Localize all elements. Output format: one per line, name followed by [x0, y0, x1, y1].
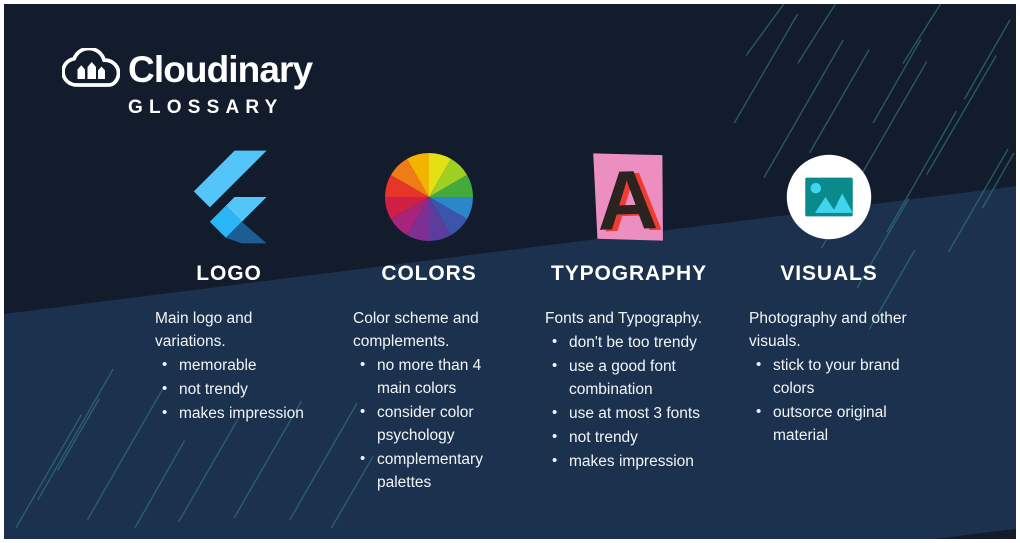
- list-item: no more than 4 main colors: [375, 355, 517, 401]
- pillar-visuals-body: Photography and other visuals. stick to …: [729, 308, 929, 449]
- pillar-typography-description: Fonts and Typography.: [545, 308, 727, 331]
- pillar-colors-body: Color scheme and complements. no more th…: [329, 308, 529, 496]
- pillar-logo-body: Main logo and variations. memorable not …: [129, 308, 329, 427]
- list-item: not trendy: [177, 379, 317, 402]
- brand-row: Cloudinary: [62, 48, 312, 90]
- brand-lockup: Cloudinary GLOSSARY: [62, 48, 312, 119]
- pillar-logo-bullets: memorable not trendy makes impression: [155, 355, 317, 426]
- pillar-typography-icon-box: A A: [583, 144, 675, 250]
- pillar-colors: COLORS Color scheme and complements. no …: [329, 144, 529, 496]
- svg-text:A: A: [596, 152, 659, 247]
- list-item: not trendy: [567, 427, 727, 450]
- pillar-logo: LOGO Main logo and variations. memorable…: [129, 144, 329, 496]
- pillar-typography-bullets: don't be too trendy use a good font comb…: [545, 332, 727, 474]
- pillar-visuals-title: VISUALS: [780, 262, 877, 286]
- flutter-logo-icon: [189, 149, 269, 245]
- pillar-visuals-description: Photography and other visuals.: [749, 308, 929, 354]
- pillar-typography: A A TYPOGRAPHY Fonts and Typography. don…: [529, 144, 729, 496]
- list-item: outsorce original material: [771, 402, 929, 448]
- slide-canvas: Cloudinary GLOSSARY LOGO Main logo and v…: [0, 0, 1020, 543]
- pillar-logo-icon-box: [189, 144, 269, 250]
- color-wheel-icon: [385, 153, 473, 241]
- pillar-logo-title: LOGO: [196, 262, 261, 286]
- brand-name: Cloudinary: [128, 51, 312, 88]
- list-item: don't be too trendy: [567, 332, 727, 355]
- pillar-typography-body: Fonts and Typography. don't be too trend…: [529, 308, 729, 475]
- list-item: consider color psychology: [375, 402, 517, 448]
- pillar-colors-title: COLORS: [381, 262, 476, 286]
- cloudinary-cloud-icon: [62, 48, 120, 90]
- list-item: stick to your brand colors: [771, 355, 929, 401]
- pillar-colors-icon-box: [385, 144, 473, 250]
- list-item: makes impression: [567, 451, 727, 474]
- list-item: complementary palettes: [375, 449, 517, 495]
- list-item: use a good font combination: [567, 356, 727, 402]
- letter-a-tile-icon: A A: [583, 147, 675, 247]
- pillar-typography-title: TYPOGRAPHY: [551, 262, 707, 286]
- pillar-colors-description: Color scheme and complements.: [353, 308, 517, 354]
- pillar-colors-bullets: no more than 4 main colors consider colo…: [353, 355, 517, 495]
- pillars-row: LOGO Main logo and variations. memorable…: [129, 144, 929, 496]
- pillar-logo-description: Main logo and variations.: [155, 308, 317, 354]
- pillar-visuals: VISUALS Photography and other visuals. s…: [729, 144, 929, 496]
- pillar-visuals-icon-box: [785, 144, 873, 250]
- list-item: makes impression: [177, 403, 317, 426]
- pillar-visuals-bullets: stick to your brand colors outsorce orig…: [749, 355, 929, 448]
- image-placeholder-icon: [785, 153, 873, 241]
- list-item: memorable: [177, 355, 317, 378]
- brand-subtitle: GLOSSARY: [128, 97, 284, 119]
- list-item: use at most 3 fonts: [567, 403, 727, 426]
